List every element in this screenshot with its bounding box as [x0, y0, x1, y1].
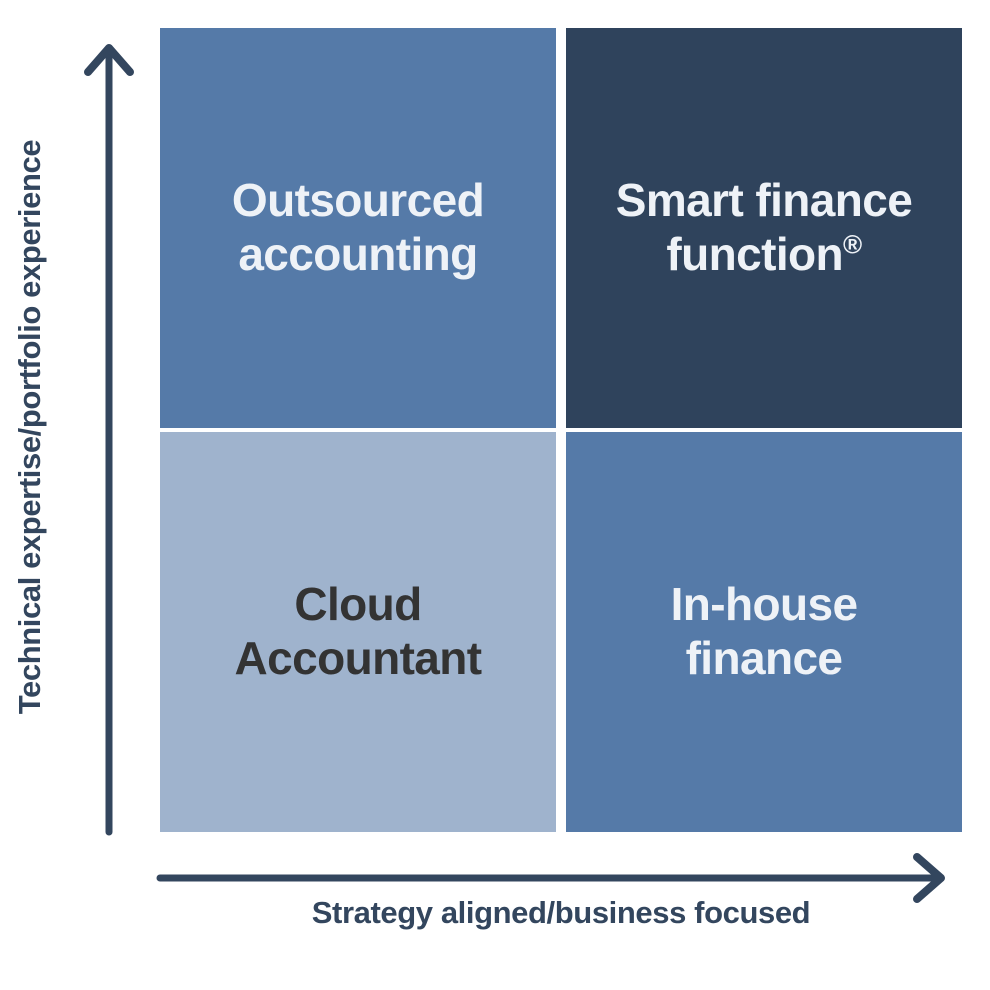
- quadrant-label-line2: accounting: [238, 228, 477, 280]
- quadrant-in-house-finance[interactable]: In-house finance: [566, 432, 962, 832]
- quadrant-label: Smart finance function®: [616, 174, 912, 282]
- arrow-right-icon: [917, 857, 941, 899]
- quadrant-label-line2: function: [666, 228, 843, 280]
- quadrant-label-line2: finance: [686, 632, 843, 684]
- y-axis: [88, 48, 130, 832]
- matrix-grid: Outsourced accounting Smart finance func…: [160, 28, 962, 832]
- quadrant-label-line1: In-house: [671, 578, 858, 630]
- y-axis-label: Technical expertise/portfolio experience: [0, 22, 60, 832]
- quadrant-label-line1: Smart finance: [616, 174, 912, 226]
- x-axis: [160, 857, 941, 899]
- quadrant-label-line1: Cloud: [294, 578, 421, 630]
- quadrant-label: Outsourced accounting: [232, 174, 484, 282]
- quadrant-label: In-house finance: [671, 578, 858, 686]
- registered-trademark-icon: ®: [843, 230, 862, 260]
- quadrant-smart-finance-function[interactable]: Smart finance function®: [566, 28, 962, 428]
- quadrant-outsourced-accounting[interactable]: Outsourced accounting: [160, 28, 556, 428]
- x-axis-label: Strategy aligned/business focused: [160, 895, 962, 931]
- arrow-up-icon: [88, 48, 130, 72]
- matrix-diagram-canvas: Technical expertise/portfolio experience…: [0, 0, 990, 990]
- quadrant-label: Cloud Accountant: [234, 578, 481, 686]
- quadrant-label-line1: Outsourced: [232, 174, 484, 226]
- quadrant-cloud-accountant[interactable]: Cloud Accountant: [160, 432, 556, 832]
- quadrant-label-line2: Accountant: [234, 632, 481, 684]
